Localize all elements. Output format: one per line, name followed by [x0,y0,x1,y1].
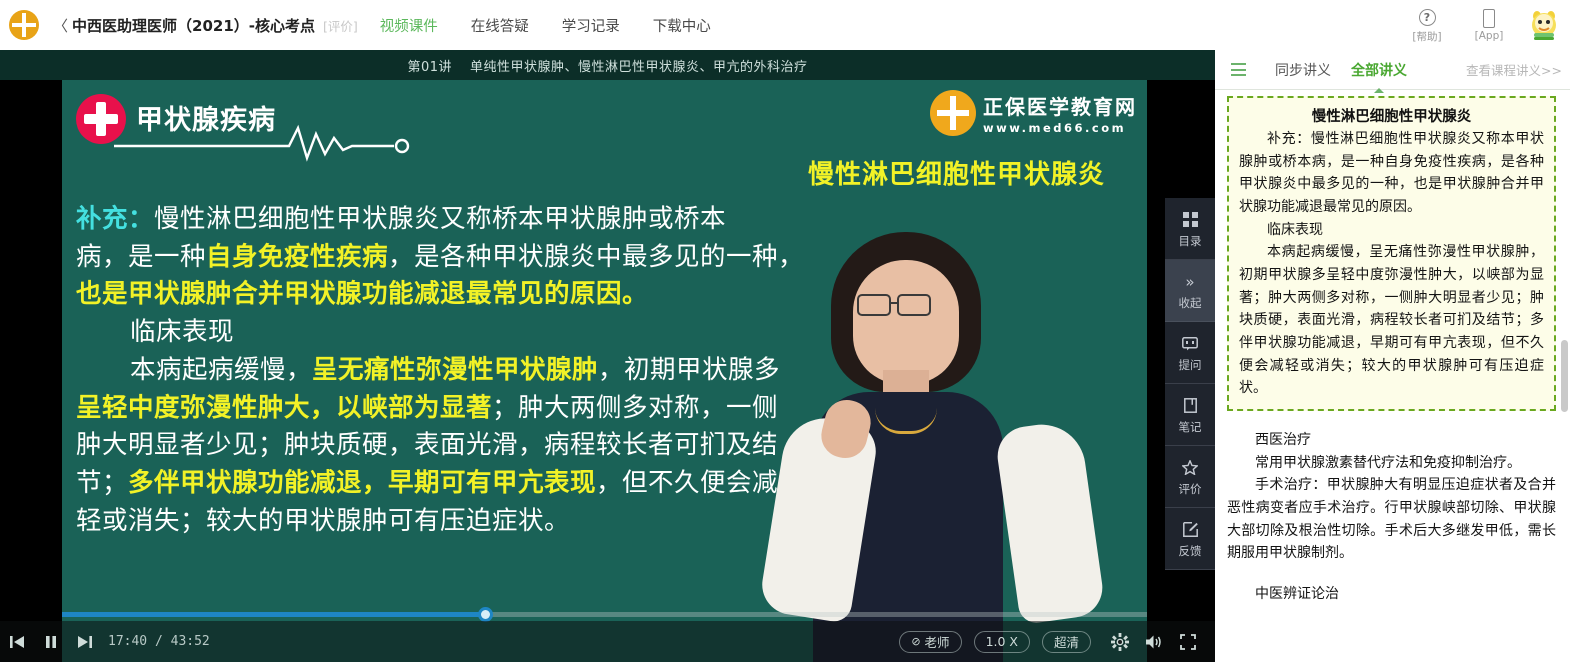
section-heading: 中医辨证论治 [1227,583,1556,606]
nav-item-video-courseware[interactable]: 视频课件 [380,15,438,36]
slide-text-run: 肿大明显者少见；肿块质硬，表面光滑，病程较长者可扪及结 [76,430,778,460]
slide-text-run: 呈无痛性弥漫性甲状腺肿 [312,355,598,385]
note-paragraph: 补充：慢性淋巴细胞性甲状腺炎又称本甲状腺肿或桥本病，是一种自身免疫性疾病，是各种… [1239,128,1544,219]
rail-label: 提问 [1179,357,1202,373]
rail-item-catalog[interactable]: 目录 [1165,198,1215,260]
help-label: [帮助] [1412,29,1441,44]
player-side-rail: 目录 » 收起 提问 笔记 评价 [1165,198,1215,570]
main-nav: 视频课件 在线答疑 学习记录 下载中心 [380,15,744,36]
rail-item-feedback[interactable]: 反馈 [1165,508,1215,570]
slide-text-run: 节； [76,468,128,498]
teacher-label: 老师 [925,632,950,651]
nav-item-study-record[interactable]: 学习记录 [562,15,620,36]
fullscreen-button[interactable] [1171,621,1205,662]
section-paragraph: 常用甲状腺激素替代疗法和免疫抑制治疗。 [1227,452,1556,475]
tab-sync-notes[interactable]: 同步讲义 [1275,60,1331,80]
previous-button[interactable] [0,621,34,662]
rail-label: 笔记 [1179,419,1202,435]
note-title: 慢性淋巴细胞性甲状腺炎 [1239,105,1544,126]
video-player[interactable]: 第01讲 单纯性甲状腺肿、慢性淋巴性甲状腺炎、甲亢的外科治疗 甲状腺疾病 慢性淋… [0,50,1215,662]
slide-text-run: 补充： [76,204,154,234]
sidebar-tabs: 同步讲义 全部讲义 查看课程讲义>> [1215,50,1570,90]
progress-handle[interactable] [478,607,493,622]
rail-label: 收起 [1179,295,1202,311]
hamburger-menu-icon[interactable] [1221,62,1255,78]
note-icon [1184,395,1197,417]
rail-item-collapse[interactable]: » 收起 [1165,260,1215,322]
nav-item-download-center[interactable]: 下载中心 [653,15,711,36]
watermark-url: www.med66.com [983,121,1137,135]
help-button[interactable]: ? [帮助] [1396,7,1458,44]
teacher-selector[interactable]: ⊘ 老师 [899,631,961,653]
bee-mascot-avatar[interactable] [1526,7,1562,43]
speed-label: 1.0 X [986,634,1018,649]
star-icon [1182,457,1198,479]
slide-text-run: 轻或消失；较大的甲状腺肿可有压迫症状。 [76,506,570,536]
slide-text-run: 多伴甲状腺功能减退，早期可有甲亢表现 [128,468,596,498]
presenter-video-figure [779,232,1079,662]
next-button[interactable] [68,621,102,662]
main-area: 第01讲 单纯性甲状腺肿、慢性淋巴性甲状腺炎、甲亢的外科治疗 甲状腺疾病 慢性淋… [0,50,1570,662]
feedback-pencil-icon [1183,519,1198,541]
rail-label: 反馈 [1179,543,1202,559]
slide-text-run: ，但不久便会减 [596,468,778,498]
watermark-name: 正保医学教育网 [983,91,1137,120]
lecture-title: 单纯性甲状腺肿、慢性淋巴性甲状腺炎、甲亢的外科治疗 [470,56,808,75]
rail-item-ask[interactable]: 提问 [1165,322,1215,384]
site-logo-icon[interactable] [9,10,39,40]
slide-text-run: 慢性淋巴细胞性甲状腺炎又称桥本甲状腺肿或桥本 [154,204,726,234]
app-label: [App] [1475,30,1504,42]
volume-button[interactable] [1137,621,1171,662]
slide-text-run: ，初期甲状腺多 [598,355,780,385]
question-mark-icon: ? [1419,7,1436,28]
settings-button[interactable] [1103,621,1137,662]
slide-text-run: ；肿大两侧多对称，一侧 [492,393,778,423]
quality-label: 超清 [1054,632,1079,651]
section-paragraph: 手术治疗：甲状腺肿大有明显压迫症状者及合并恶性病变者应手术治疗。行甲状腺峡部切除… [1227,474,1556,565]
watermark: 正保医学教育网 www.med66.com [930,90,1137,136]
pause-button[interactable] [34,621,68,662]
collapse-icon: » [1185,271,1194,293]
back-chevron-icon[interactable]: 〈 [53,15,68,36]
tab-all-notes[interactable]: 全部讲义 [1351,60,1407,80]
section-heading: 西医治疗 [1227,429,1556,452]
slide-text-run: 呈轻中度弥漫性肿大，以峡部为显著 [76,393,492,423]
speech-bubble-icon [1182,333,1198,355]
watermark-logo-icon [930,90,976,136]
view-course-notes-link[interactable]: 查看课程讲义>> [1466,60,1562,79]
lecture-number: 第01讲 [407,56,452,75]
lecture-notes-sidebar: 同步讲义 全部讲义 查看课程讲义>> 慢性淋巴细胞性甲状腺炎 补充：慢性淋巴细胞… [1215,50,1570,662]
note-paragraph: 临床表现 [1239,219,1544,242]
time-display: 17:40 / 43:52 [108,634,210,649]
rail-item-notes[interactable]: 笔记 [1165,384,1215,446]
note-paragraph: 本病起病缓慢，呈无痛性弥漫性甲状腺肿，初期甲状腺多呈轻中度弥漫性肿大，以峡部为显… [1239,241,1544,400]
playback-speed-selector[interactable]: 1.0 X [974,631,1030,653]
grid-icon [1183,209,1198,231]
check-circle-icon: ⊘ [911,635,920,648]
rail-label: 评价 [1179,481,1202,497]
rail-label: 目录 [1179,233,1202,249]
top-header: 〈 中西医助理医师（2021）-核心考点 [评价] 视频课件 在线答疑 学习记录… [0,0,1570,50]
ekg-line-icon [114,124,514,164]
slide-canvas: 甲状腺疾病 慢性淋巴细胞性甲状腺炎 补充：慢性淋巴细胞性甲状腺炎又称桥本甲状腺肿… [62,80,1147,662]
page-title: 中西医助理医师（2021）-核心考点 [72,15,315,36]
player-controls: 17:40 / 43:52 ⊘ 老师 1.0 X 超清 [0,621,1215,662]
progress-fill [62,612,485,617]
rail-item-rate[interactable]: 评价 [1165,446,1215,508]
slide-text-run: 自身免疫性疾病 [206,242,388,272]
slide-text-run: 本病起病缓慢， [130,355,312,385]
app-button[interactable]: [App] [1458,8,1520,42]
highlighted-note-box: 慢性淋巴细胞性甲状腺炎 补充：慢性淋巴细胞性甲状腺炎又称本甲状腺肿或桥本病，是一… [1227,96,1556,411]
evaluate-link[interactable]: [评价] [323,16,358,35]
sidebar-content[interactable]: 慢性淋巴细胞性甲状腺炎 补充：慢性淋巴细胞性甲状腺炎又称本甲状腺肿或桥本病，是一… [1215,90,1570,662]
player-controls-right: ⊘ 老师 1.0 X 超清 [899,621,1215,662]
quality-selector[interactable]: 超清 [1042,631,1091,653]
header-actions: ? [帮助] [App] [1396,0,1562,50]
sidebar-scrollbar-thumb[interactable] [1561,340,1568,412]
slide-text-run: 病，是一种 [76,242,206,272]
slide-text-run: 也是甲状腺肿合并甲状腺功能减退最常见的原因。 [76,279,648,309]
progress-bar[interactable] [0,607,1215,621]
slide-text-run: ，是各种甲状腺炎中最多见的一种， [388,242,804,272]
video-title-bar: 第01讲 单纯性甲状腺肿、慢性淋巴性甲状腺炎、甲亢的外科治疗 [0,50,1215,80]
nav-item-online-qa[interactable]: 在线答疑 [471,15,529,36]
slide-text-run: 临床表现 [130,317,234,347]
mobile-phone-icon [1483,8,1495,29]
